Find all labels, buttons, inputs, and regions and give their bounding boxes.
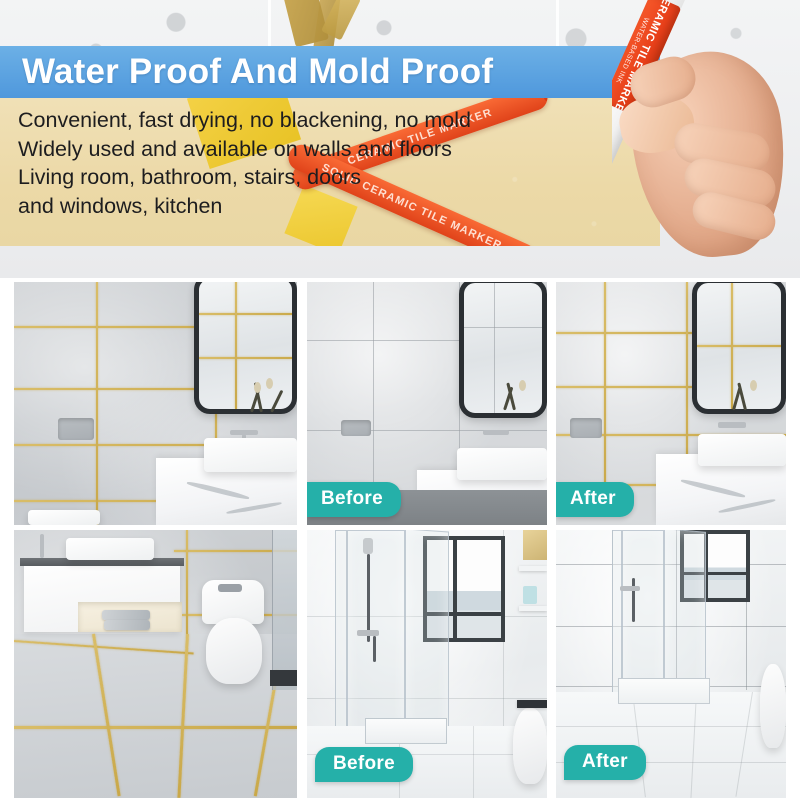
grout-line bbox=[96, 282, 98, 525]
bathroom-mirror bbox=[459, 282, 547, 418]
folded-towel bbox=[104, 620, 150, 630]
product-marketing-image: CERAMIC TILE MARKER SOLID CERAMIC TILE M… bbox=[0, 0, 800, 800]
folded-towel bbox=[102, 610, 150, 620]
feature-line: Convenient, fast drying, no blackening, … bbox=[18, 106, 578, 135]
window-mullion bbox=[453, 540, 457, 638]
grout-line bbox=[494, 283, 495, 413]
shower-mixer bbox=[620, 586, 640, 591]
shower-tray bbox=[365, 718, 447, 744]
panel-bathroom-before-wall: Before bbox=[307, 282, 547, 525]
shower-glass-panel bbox=[347, 530, 405, 742]
grout-line bbox=[697, 345, 786, 347]
feature-list: Convenient, fast drying, no blackening, … bbox=[18, 106, 578, 220]
shower-hose bbox=[632, 578, 635, 622]
marble-vein bbox=[186, 480, 249, 500]
status-badge: Before bbox=[315, 747, 413, 782]
panel-shower-before: Before bbox=[307, 530, 547, 798]
toilet-bowl bbox=[760, 664, 786, 748]
status-badge: Before bbox=[307, 482, 401, 517]
tile-seam bbox=[268, 0, 271, 46]
toiletry-bottle bbox=[523, 586, 537, 604]
soap-niche bbox=[58, 418, 94, 440]
sink-basin bbox=[66, 538, 154, 560]
marble-vein bbox=[680, 478, 745, 499]
toilet-lid bbox=[517, 700, 547, 708]
toilet-bowl bbox=[206, 618, 262, 684]
plant-bud bbox=[750, 380, 757, 391]
marble-vein bbox=[226, 501, 282, 515]
shower-glass-door bbox=[664, 530, 706, 702]
mirror-reflection bbox=[199, 282, 292, 409]
mirror-reflection bbox=[464, 283, 542, 413]
photo-grid: Before bbox=[0, 278, 800, 800]
toilet-flush-button bbox=[218, 584, 242, 592]
grout-line bbox=[199, 357, 297, 359]
plant-bud bbox=[254, 382, 261, 393]
grout-line bbox=[199, 313, 297, 315]
shower-glass-edge bbox=[272, 530, 297, 690]
status-badge: After bbox=[564, 745, 646, 780]
panel-bathroom-floor-gold-grout bbox=[14, 530, 297, 798]
panel-bathroom-gold-grout-wall bbox=[14, 282, 297, 525]
faucet bbox=[483, 430, 509, 435]
panel-bathroom-after-wall: After bbox=[556, 282, 786, 525]
shower-mixer bbox=[357, 630, 379, 636]
status-badge: After bbox=[556, 482, 634, 517]
grout-line bbox=[373, 282, 374, 497]
panel-shower-after: After bbox=[556, 530, 786, 798]
faucet bbox=[718, 422, 746, 428]
wall-art bbox=[523, 530, 547, 560]
plant-bud bbox=[266, 378, 273, 389]
shower-glass-door bbox=[405, 530, 449, 732]
grout-line bbox=[464, 327, 547, 328]
shower-head bbox=[363, 538, 373, 554]
title-banner: Water Proof And Mold Proof bbox=[0, 46, 660, 98]
feature-line: and windows, kitchen bbox=[18, 192, 578, 221]
grout-line bbox=[14, 726, 297, 729]
grout-line bbox=[186, 530, 188, 634]
wall-shelf bbox=[519, 606, 547, 611]
soap-niche bbox=[341, 420, 371, 436]
plant-bud bbox=[519, 380, 526, 391]
sink-basin bbox=[457, 448, 547, 480]
shower-hose bbox=[367, 554, 370, 642]
grout-line bbox=[604, 282, 606, 502]
tile-seam bbox=[556, 0, 559, 46]
marble-vein bbox=[718, 498, 776, 514]
shower-hose bbox=[373, 636, 376, 662]
grout-line bbox=[731, 283, 733, 409]
sink-basin bbox=[698, 434, 786, 466]
grout-line bbox=[235, 282, 237, 409]
shower-glass-panel bbox=[335, 530, 347, 742]
grout-line bbox=[473, 726, 474, 798]
header-section: CERAMIC TILE MARKER SOLID CERAMIC TILE M… bbox=[0, 0, 800, 278]
grout-line bbox=[556, 726, 786, 727]
wall-shelf bbox=[519, 566, 547, 571]
page-title: Water Proof And Mold Proof bbox=[0, 52, 493, 92]
faucet bbox=[40, 534, 44, 558]
soap-niche bbox=[570, 418, 602, 438]
toilet-bowl bbox=[513, 708, 547, 784]
shower-threshold bbox=[270, 670, 297, 686]
toilet-edge bbox=[28, 510, 100, 525]
hand-holding-pen: CERAMIC TILE MARKER WATER-BASED INK bbox=[612, 0, 800, 278]
feature-line: Living room, bathroom, stairs, doors bbox=[18, 163, 578, 192]
shower-tray bbox=[618, 678, 710, 704]
sink-basin bbox=[204, 438, 297, 472]
feature-line: Widely used and available on walls and f… bbox=[18, 135, 578, 164]
